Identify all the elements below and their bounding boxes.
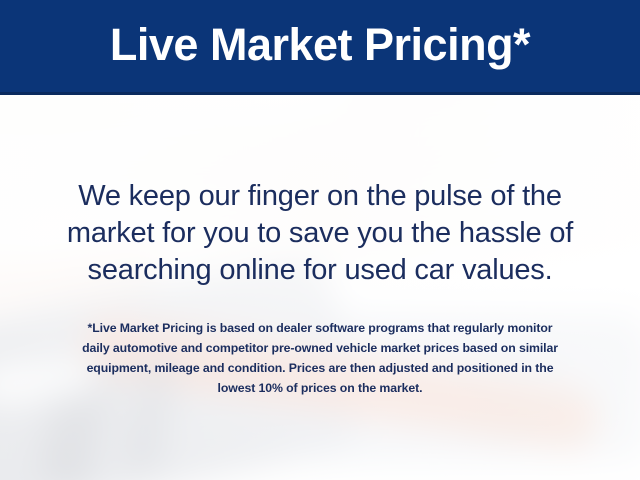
headline-line-1: We keep our finger on the pulse of the [22, 178, 618, 215]
content-area: We keep our finger on the pulse of the m… [0, 95, 640, 480]
disclaimer-text: *Live Market Pricing is based on dealer … [30, 318, 610, 398]
disclaimer-line-2: daily automotive and competitor pre-owne… [30, 338, 610, 358]
disclaimer-line-3: equipment, mileage and condition. Prices… [30, 358, 610, 378]
header-banner: Live Market Pricing* [0, 0, 640, 95]
headline-line-3: searching online for used car values. [22, 252, 618, 289]
headline-text: We keep our finger on the pulse of the m… [22, 178, 618, 289]
page-title: Live Market Pricing* [110, 22, 530, 71]
disclaimer-line-4: lowest 10% of prices on the market. [30, 378, 610, 398]
headline-line-2: market for you to save you the hassle of [22, 215, 618, 252]
promo-banner-screen: Live Market Pricing* We keep our finger … [0, 0, 640, 480]
disclaimer-line-1: *Live Market Pricing is based on dealer … [30, 318, 610, 338]
